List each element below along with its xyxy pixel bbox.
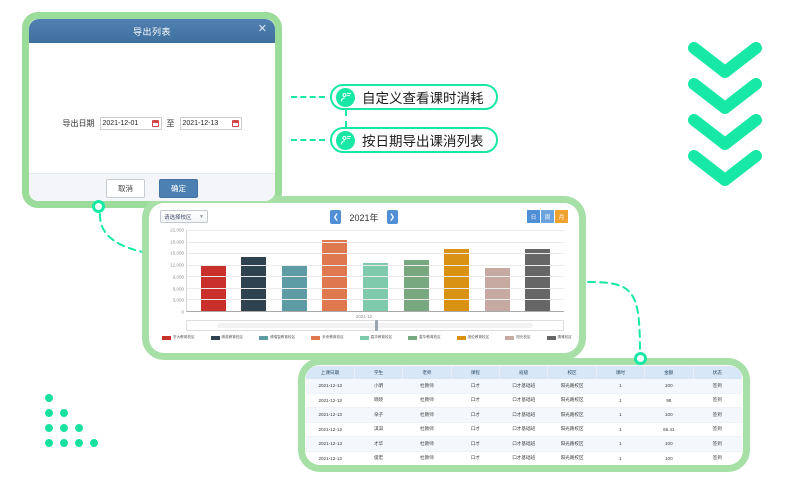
table-row[interactable]: 2021-12-13俊宏杜教师口才口才基础班阳光路校区1100签到 [306, 451, 742, 464]
table-cell: 2021-12-13 [306, 408, 354, 423]
table-cell: 阳光路校区 [548, 408, 596, 423]
legend-swatch [408, 336, 417, 340]
table-cell: 98 [645, 393, 693, 408]
user-check-icon [336, 131, 355, 150]
legend-item[interactable]: 英伦教育校区 [457, 335, 490, 340]
table-column-header: 课时 [596, 366, 644, 379]
table-column-header: 上课日期 [306, 366, 354, 379]
table-cell: 1 [596, 451, 644, 464]
connector-knob [92, 200, 105, 213]
table: 上课日期学生老师课程班级校区课时金额状态 2021-12-13小明杜教师口才口才… [306, 366, 742, 464]
table-cell: 100 [645, 379, 693, 393]
callout-label: 自定义查看课时消耗 [362, 87, 484, 107]
table-column-header: 状态 [693, 366, 742, 379]
confirm-button[interactable]: 确定 [159, 179, 198, 198]
chevron-stack [686, 40, 764, 184]
table-cell: 杜教师 [403, 451, 451, 464]
y-tick-label: 6,000 [173, 286, 184, 291]
table-cell: 口才 [451, 451, 499, 464]
table-cell: 口才基础班 [500, 408, 548, 423]
legend-label: 阳光校区 [516, 335, 530, 340]
plot-grid [186, 230, 564, 312]
table-cell: 口才基础班 [500, 422, 548, 437]
chevron-right-icon[interactable]: ❯ [387, 210, 398, 224]
table-row[interactable]: 2021-12-13小明杜教师口才口才基础班阳光路校区1100签到 [306, 379, 742, 393]
table-row[interactable]: 2021-12-13晓晓杜教师口才口才基础班阳光路校区198签到 [306, 393, 742, 408]
callout-custom-view: 自定义查看课时消耗 [330, 84, 498, 110]
table-cell: 签到 [693, 393, 742, 408]
legend-label: 英伦教育校区 [468, 335, 490, 340]
table-cell: 66.41 [645, 422, 693, 437]
table-header-row: 上课日期学生老师课程班级校区课时金额状态 [306, 366, 742, 379]
table-cell: 阳光路校区 [548, 393, 596, 408]
table-cell: 2021-12-13 [306, 393, 354, 408]
table-cell: 签到 [693, 422, 742, 437]
table-cell: 阳光路校区 [548, 379, 596, 393]
range-separator: 至 [167, 118, 175, 129]
legend-swatch [457, 336, 466, 340]
grid-line [187, 230, 564, 231]
dialog-titlebar: 导出列表 ✕ [29, 19, 275, 43]
table-cell: 口才 [451, 408, 499, 423]
slider-handle[interactable] [375, 320, 378, 331]
table-cell: 小明 [354, 379, 402, 393]
legend-item[interactable]: 学大教育校区 [162, 335, 195, 340]
table-cell: 才华 [354, 437, 402, 452]
connector-knob [634, 352, 647, 365]
legend-label: 未来教育校区 [322, 335, 344, 340]
legend-label: 博瑞智教育校区 [270, 335, 295, 340]
table-cell: 1 [596, 379, 644, 393]
grid-line [187, 265, 564, 266]
calendar-icon[interactable] [152, 120, 159, 127]
chart-panel: 请选择校区 ▼ ❮ 2021年 ❯ 日 周 月 03,0006,0009,000… [150, 204, 578, 352]
legend-label: 嘉华教育校区 [371, 335, 393, 340]
date-to-input[interactable]: 2021-12-13 [180, 117, 242, 130]
legend-label: 星华教育校区 [419, 335, 441, 340]
date-from-value: 2021-12-01 [103, 120, 152, 127]
close-icon[interactable]: ✕ [258, 24, 267, 35]
table-column-header: 课程 [451, 366, 499, 379]
legend-swatch [505, 336, 514, 340]
table-cell: 口才 [451, 422, 499, 437]
grid-line [187, 276, 564, 277]
table-cell: 杜教师 [403, 393, 451, 408]
bar[interactable] [404, 260, 429, 311]
table-column-header: 校区 [548, 366, 596, 379]
table-row[interactable]: 2021-12-13才华杜教师口才口才基础班阳光路校区1100签到 [306, 437, 742, 452]
period-month-button[interactable]: 月 [555, 210, 568, 223]
legend-item[interactable]: 星华教育校区 [408, 335, 441, 340]
table-cell: 签到 [693, 408, 742, 423]
chart-range-slider[interactable] [186, 320, 564, 331]
callout-connector-bottom [291, 139, 325, 141]
chart-legend: 学大教育校区精英教育校区博瑞智教育校区未来教育校区嘉华教育校区星华教育校区英伦教… [162, 335, 572, 340]
chevron-left-icon[interactable]: ❮ [330, 210, 341, 224]
table-cell: 2021-12-13 [306, 437, 354, 452]
legend-swatch [547, 336, 556, 340]
table-cell: 阳光路校区 [548, 422, 596, 437]
table-cell: 口才 [451, 393, 499, 408]
chevron-down-icon [686, 148, 764, 188]
table-cell: 1 [596, 422, 644, 437]
y-tick-label: 9,000 [173, 274, 184, 279]
legend-swatch [360, 336, 369, 340]
chevron-down-icon [686, 40, 764, 80]
class-consumption-table: 上课日期学生老师课程班级校区课时金额状态 2021-12-13小明杜教师口才口才… [306, 366, 742, 464]
user-check-icon [336, 88, 355, 107]
legend-swatch [259, 336, 268, 340]
legend-item[interactable]: 清雅校区 [547, 335, 572, 340]
legend-item[interactable]: 未来教育校区 [311, 335, 344, 340]
cancel-button[interactable]: 取消 [106, 179, 145, 198]
table-cell: 2021-12-13 [306, 379, 354, 393]
table-cell: 阳光路校区 [548, 437, 596, 452]
chevron-down-icon [686, 76, 764, 116]
y-tick-label: 21,000 [170, 228, 184, 233]
chevron-down-icon [686, 112, 764, 152]
table-cell: 签到 [693, 451, 742, 464]
table-cell: 淇淇 [354, 422, 402, 437]
legend-swatch [162, 336, 171, 340]
y-tick-label: 18,000 [170, 239, 184, 244]
legend-item[interactable]: 阳光校区 [505, 335, 530, 340]
y-tick-label: 3,000 [173, 298, 184, 303]
table-cell: 杜教师 [403, 422, 451, 437]
table-column-header: 班级 [500, 366, 548, 379]
table-cell: 俊宏 [354, 451, 402, 464]
table-cell: 杜教师 [403, 379, 451, 393]
calendar-icon[interactable] [232, 120, 239, 127]
dialog-footer: 取消 确定 [29, 173, 275, 201]
period-day-button[interactable]: 日 [527, 210, 541, 223]
x-axis-label: 2021-12 [150, 314, 578, 319]
dialog-title: 导出列表 [133, 25, 171, 38]
table-column-header: 金额 [645, 366, 693, 379]
legend-item[interactable]: 嘉华教育校区 [360, 335, 393, 340]
table-row[interactable]: 2021-12-13朵子杜教师口才口才基础班阳光路校区1100签到 [306, 408, 742, 423]
y-tick-label: 15,000 [170, 251, 184, 256]
table-cell: 杜教师 [403, 437, 451, 452]
y-axis: 03,0006,0009,00012,00015,00018,00021,000 [160, 230, 186, 312]
table-cell: 口才基础班 [500, 437, 548, 452]
grid-line [187, 299, 564, 300]
grid-line [187, 288, 564, 289]
legend-item[interactable]: 精英教育校区 [211, 335, 244, 340]
table-cell: 晓晓 [354, 393, 402, 408]
table-cell: 1 [596, 408, 644, 423]
table-cell: 签到 [693, 379, 742, 393]
chart-to-table-curve [586, 280, 656, 360]
date-to-value: 2021-12-13 [183, 120, 232, 127]
table-cell: 阳光路校区 [548, 451, 596, 464]
legend-label: 精英教育校区 [222, 335, 244, 340]
table-cell: 杜教师 [403, 408, 451, 423]
legend-item[interactable]: 博瑞智教育校区 [259, 335, 295, 340]
callout-export-by-date: 按日期导出课消列表 [330, 127, 498, 153]
table-column-header: 老师 [403, 366, 451, 379]
date-range-row: 导出日期 2021-12-01 至 2021-12-13 [29, 117, 275, 130]
table-cell: 1 [596, 393, 644, 408]
bar[interactable] [485, 268, 510, 311]
table-cell: 口才 [451, 379, 499, 393]
period-toggle-group: 日 周 月 [527, 210, 568, 223]
bar-chart: 03,0006,0009,00012,00015,00018,00021,000 [160, 230, 568, 312]
y-tick-label: 12,000 [170, 263, 184, 268]
table-cell: 2021-12-13 [306, 451, 354, 464]
grid-line [187, 242, 564, 243]
grid-line [187, 253, 564, 254]
table-cell: 口才基础班 [500, 379, 548, 393]
callout-connector-vertical [345, 110, 347, 127]
period-week-button[interactable]: 周 [541, 210, 555, 223]
table-cell: 口才基础班 [500, 393, 548, 408]
dialog-body: 导出日期 2021-12-01 至 2021-12-13 [29, 43, 275, 173]
page-root: 导出列表 ✕ 导出日期 2021-12-01 至 2021-12-13 取消 确… [0, 0, 800, 500]
table-column-header: 学生 [354, 366, 402, 379]
export-dialog: 导出列表 ✕ 导出日期 2021-12-01 至 2021-12-13 取消 确… [29, 19, 275, 201]
table-cell: 朵子 [354, 408, 402, 423]
callout-connector-top [291, 96, 325, 98]
table-cell: 100 [645, 451, 693, 464]
table-body: 2021-12-13小明杜教师口才口才基础班阳光路校区1100签到2021-12… [306, 379, 742, 464]
table-cell: 口才 [451, 437, 499, 452]
table-cell: 签到 [693, 437, 742, 452]
table-cell: 100 [645, 437, 693, 452]
legend-label: 学大教育校区 [173, 335, 195, 340]
year-label: 2021年 [349, 211, 378, 224]
year-navigator: ❮ 2021年 ❯ [150, 210, 578, 224]
table-cell: 口才基础班 [500, 451, 548, 464]
callout-label: 按日期导出课消列表 [362, 130, 484, 150]
chart-toolbar: 请选择校区 ▼ ❮ 2021年 ❯ 日 周 月 [150, 210, 578, 226]
export-date-label: 导出日期 [63, 118, 95, 129]
legend-swatch [311, 336, 320, 340]
table-cell: 2021-12-13 [306, 422, 354, 437]
table-row[interactable]: 2021-12-13淇淇杜教师口才口才基础班阳光路校区166.41签到 [306, 422, 742, 437]
table-cell: 1 [596, 437, 644, 452]
date-from-input[interactable]: 2021-12-01 [100, 117, 162, 130]
bar[interactable] [444, 249, 469, 311]
bar[interactable] [525, 249, 550, 311]
legend-swatch [211, 336, 220, 340]
table-cell: 100 [645, 408, 693, 423]
legend-label: 清雅校区 [558, 335, 572, 340]
